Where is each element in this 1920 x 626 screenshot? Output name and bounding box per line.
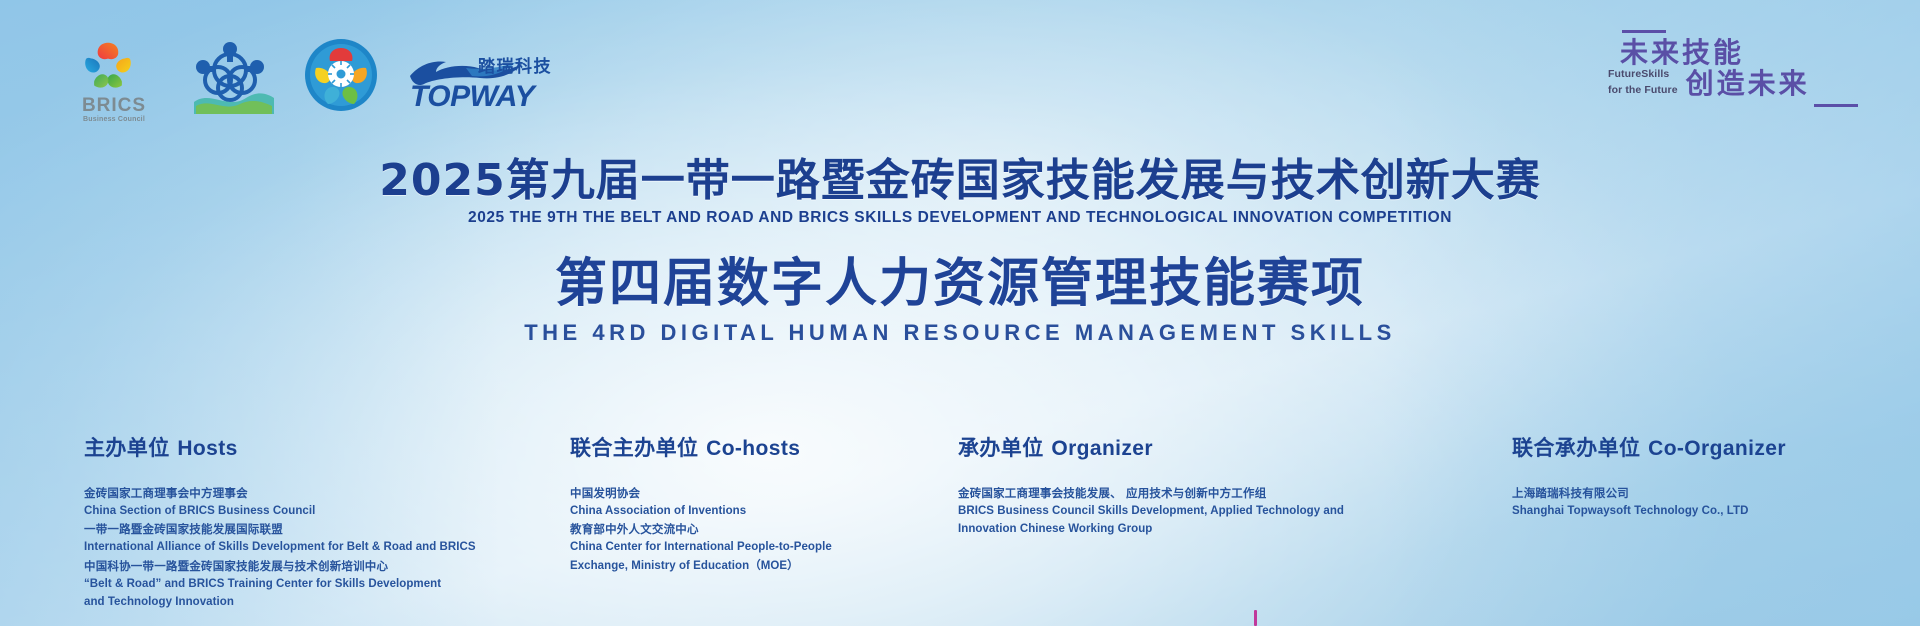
logo-strip: BRICS Business Council — [78, 38, 554, 112]
column-heading-cn: 主办单位 — [84, 436, 170, 460]
skills-alliance-logo — [184, 40, 272, 112]
column-heading-en: Organizer — [1051, 437, 1153, 460]
column-heading: 联合承办单位 Co-Organizer — [1512, 432, 1852, 462]
future-skills-en: FutureSkills for the Future — [1608, 68, 1678, 99]
organizer-column-organizer: 承办单位 Organizer 金砖国家工商理事会技能发展、 应用技术与创新中方工… — [958, 432, 1378, 538]
column-body: 中国发明协会 China Association of Inventions 教… — [570, 484, 870, 575]
main-title-cn: 2025第九届一带一路暨金砖国家技能发展与技术创新大赛 — [0, 158, 1920, 204]
alliance-emblem-icon — [184, 40, 276, 114]
org-line: China Section of BRICS Business Council — [84, 502, 514, 520]
org-line: 上海踏瑞科技有限公司 — [1512, 484, 1852, 502]
organizer-column-coorganizer: 联合承办单位 Co-Organizer 上海踏瑞科技有限公司 Shanghai … — [1512, 432, 1852, 520]
org-line: “Belt & Road” and BRICS Training Center … — [84, 575, 514, 593]
org-line: 中国科协一带一路暨金砖国家技能发展与技术创新培训中心 — [84, 557, 514, 575]
sub-title-cn: 第四届数字人力资源管理技能赛项 — [0, 257, 1920, 312]
topway-chinese-name: 踏瑞科技 — [478, 52, 552, 77]
org-line: BRICS Business Council Skills Developmen… — [958, 502, 1378, 520]
column-heading-en: Co-hosts — [706, 437, 800, 460]
org-line: and Technology Innovation — [84, 593, 514, 611]
banner-stage: BRICS Business Council — [0, 0, 1920, 626]
brics-star-icon — [78, 40, 138, 90]
column-heading-cn: 承办单位 — [958, 436, 1044, 460]
column-heading-cn: 联合主办单位 — [570, 436, 698, 460]
org-line: 金砖国家工商理事会技能发展、 应用技术与创新中方工作组 — [958, 484, 1378, 502]
org-line: 金砖国家工商理事会中方理事会 — [84, 484, 514, 502]
main-title-en: 2025 THE 9TH THE BELT AND ROAD AND BRICS… — [0, 209, 1920, 227]
org-line: China Association of Inventions — [570, 502, 870, 520]
future-skills-en-line2: for the Future — [1608, 84, 1678, 99]
column-body: 金砖国家工商理事会中方理事会 China Section of BRICS Bu… — [84, 484, 514, 611]
bottom-edge-marker — [1254, 610, 1257, 626]
sub-title-en: THE 4RD DIGITAL HUMAN RESOURCE MANAGEMEN… — [0, 320, 1920, 346]
organizer-columns: 主办单位 Hosts 金砖国家工商理事会中方理事会 China Section … — [0, 432, 1920, 612]
badge-rule-top — [1622, 30, 1666, 33]
badge-rule-bottom — [1814, 104, 1858, 107]
future-skills-line1: 未来技能 — [1608, 38, 1858, 68]
topway-logo: TOPWAY 踏瑞科技 — [406, 50, 554, 112]
future-skills-line2: 创造未来 — [1686, 69, 1810, 99]
organizer-column-hosts: 主办单位 Hosts 金砖国家工商理事会中方理事会 China Section … — [84, 432, 514, 611]
column-body: 上海踏瑞科技有限公司 Shanghai Topwaysoft Technolog… — [1512, 484, 1852, 520]
column-heading-en: Co-Organizer — [1648, 437, 1786, 460]
org-line: China Center for International People-to… — [570, 538, 870, 556]
belt-road-emblem-icon — [304, 38, 378, 112]
column-heading: 主办单位 Hosts — [84, 432, 514, 462]
column-heading-cn: 联合承办单位 — [1512, 436, 1640, 460]
belt-road-emblem-logo — [304, 38, 378, 112]
org-line: 中国发明协会 — [570, 484, 870, 502]
svg-text:TOPWAY: TOPWAY — [410, 80, 538, 112]
title-block: 2025第九届一带一路暨金砖国家技能发展与技术创新大赛 2025 THE 9TH… — [0, 158, 1920, 346]
brics-logo-subtitle: Business Council — [78, 116, 150, 123]
org-line: International Alliance of Skills Develop… — [84, 538, 514, 556]
column-heading: 承办单位 Organizer — [958, 432, 1378, 462]
organizer-column-cohosts: 联合主办单位 Co-hosts 中国发明协会 China Association… — [570, 432, 870, 575]
future-skills-badge: 未来技能 FutureSkills for the Future 创造未来 — [1608, 30, 1858, 107]
column-heading: 联合主办单位 Co-hosts — [570, 432, 870, 462]
org-line: 教育部中外人文交流中心 — [570, 520, 870, 538]
future-skills-en-line1: FutureSkills — [1608, 68, 1678, 83]
org-line: Shanghai Topwaysoft Technology Co., LTD — [1512, 502, 1852, 520]
org-line: 一带一路暨金砖国家技能发展国际联盟 — [84, 520, 514, 538]
brics-logo-title: BRICS — [78, 96, 150, 116]
brics-business-council-logo: BRICS Business Council — [78, 40, 150, 112]
org-line: Innovation Chinese Working Group — [958, 520, 1378, 538]
column-heading-en: Hosts — [177, 437, 237, 460]
org-line: Exchange, Ministry of Education（MOE） — [570, 557, 870, 575]
column-body: 金砖国家工商理事会技能发展、 应用技术与创新中方工作组 BRICS Busine… — [958, 484, 1378, 538]
